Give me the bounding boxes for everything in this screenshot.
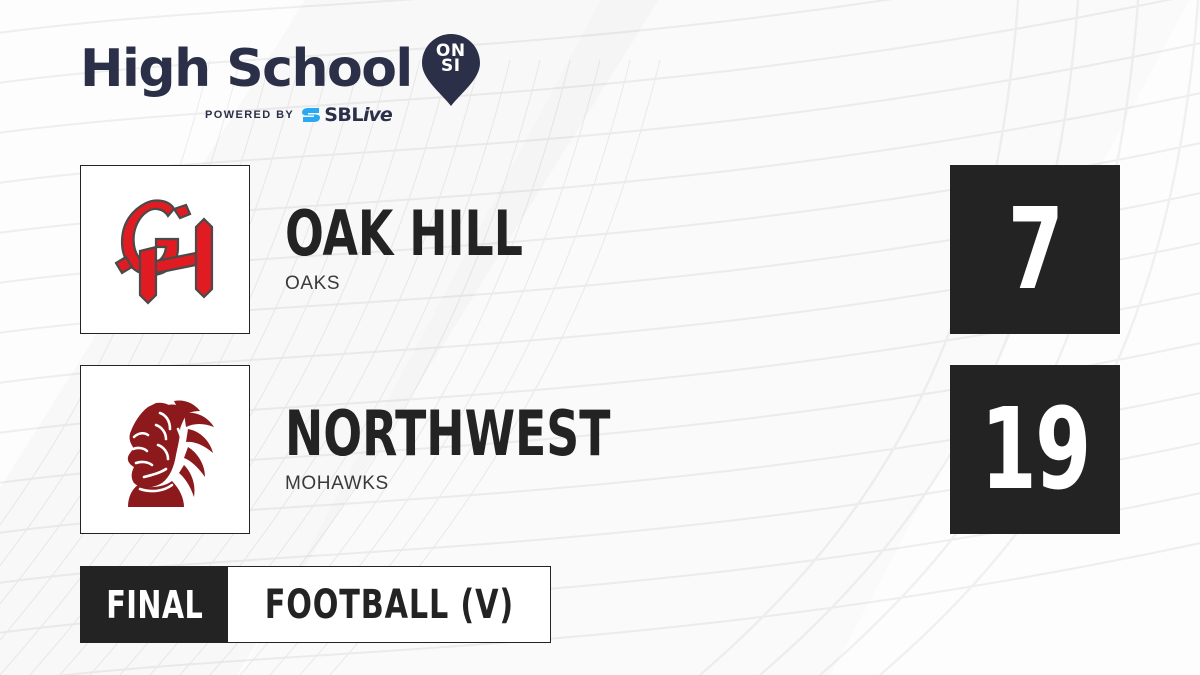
scoreboard-graphic: High School ON SI POWERED BY SBLive [0,0,1200,675]
sport-label-container: FOOTBALL (V) [228,567,550,642]
northwest-text-block: NORTHWEST MOHAWKS [285,365,682,534]
oak-hill-text-block: OAK HILL OAKS [285,165,575,334]
game-status-bar: FINAL FOOTBALL (V) [80,566,551,643]
brand-primary-row: High School ON SI [80,38,510,100]
on-si-badge-text: ON SI [422,44,480,74]
team-name: NORTHWEST [285,404,610,464]
oak-hill-oh-monogram-logo [100,185,230,315]
team-mascot: MOHAWKS [285,473,682,495]
game-state-label: FINAL [106,586,203,624]
team-mascot: OAKS [285,273,575,295]
northwest-logo-card[interactable] [80,365,250,534]
sblive-wordmark: SBLive [324,106,392,125]
sport-label: FOOTBALL (V) [264,585,513,625]
sblive-logo: SBLive [301,105,392,125]
sblive-sbl-text: SBL [324,104,363,126]
oak-hill-logo-card[interactable] [80,165,250,334]
brand-wordmark: High School [80,43,412,95]
oak-hill-score-box: 7 [950,165,1120,334]
team-name: OAK HILL [285,204,523,264]
team-score: 19 [981,394,1090,506]
badge-line-si: SI [422,59,480,74]
powered-by-label: POWERED BY [205,109,294,121]
team-score: 7 [1008,194,1062,306]
status-badge: FINAL [81,567,228,642]
powered-by-row: POWERED BY SBLive [205,105,510,125]
sblive-s-mark-icon [301,105,321,125]
northwest-mohawks-head-logo [100,385,230,515]
northwest-score-box: 19 [950,365,1120,534]
brand-lockup: High School ON SI POWERED BY SBLive [80,38,510,125]
sblive-ive-text: ive [363,104,392,126]
on-si-map-pin-badge: ON SI [422,34,480,106]
